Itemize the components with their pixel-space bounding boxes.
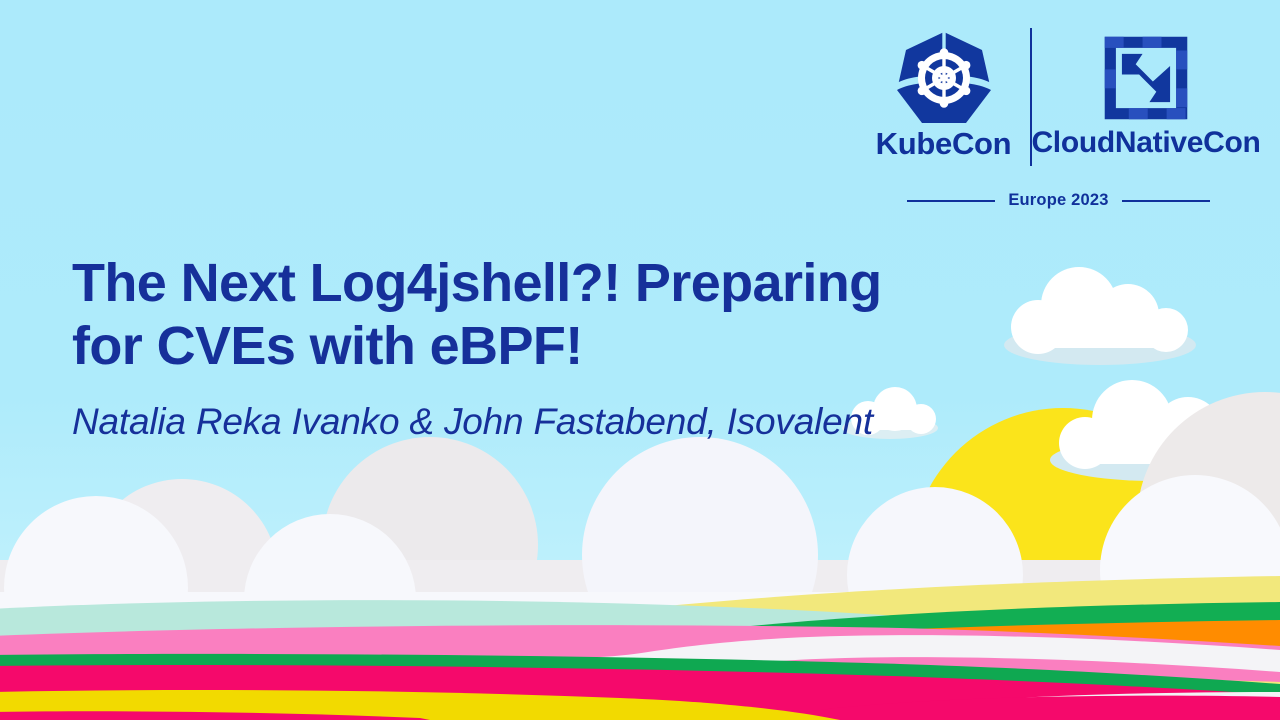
cncf-square-icon	[1103, 28, 1189, 128]
slide-subtitle-speakers: Natalia Reka Ivanko & John Fastabend, Is…	[72, 400, 1032, 444]
cloudnativecon-mark-column: CloudNativeCon	[1046, 28, 1246, 158]
edition-label: Europe 2023	[1008, 191, 1108, 210]
edition-rule-right	[1122, 200, 1210, 202]
presentation-slide: KubeCon	[0, 0, 1280, 720]
slide-title: The Next Log4jshell?! Preparing for CVEs…	[72, 252, 1032, 378]
edition-row: Europe 2023	[871, 191, 1246, 210]
cloudnativecon-wordmark: CloudNativeCon	[1031, 128, 1260, 158]
cloud-upper-right	[1004, 267, 1196, 365]
kubecon-cloudnativecon-logo: KubeCon	[871, 28, 1246, 210]
kubecon-wordmark: KubeCon	[876, 128, 1012, 159]
kubecon-mark-column: KubeCon	[871, 28, 1016, 159]
headline-block: The Next Log4jshell?! Preparing for CVEs…	[72, 252, 1032, 445]
kubernetes-helm-wheel-icon	[894, 28, 994, 128]
logo-marks-row: KubeCon	[871, 28, 1246, 176]
edition-rule-left	[907, 200, 995, 202]
